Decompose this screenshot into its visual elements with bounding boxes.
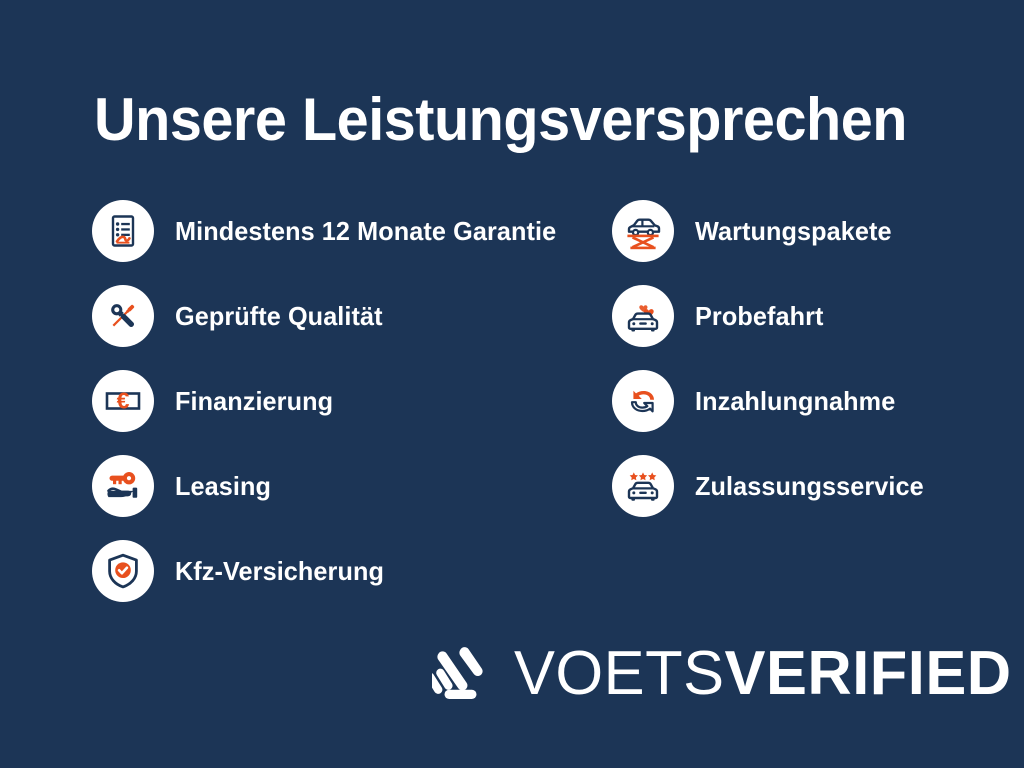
page-title: Unsere Leistungsversprechen xyxy=(94,86,920,154)
brand-logo-text: VOETSVERIFIED xyxy=(514,643,1012,705)
document-signature-icon xyxy=(92,200,154,262)
wrench-screwdriver-icon xyxy=(92,285,154,347)
feature-item-finanzierung[interactable]: € Finanzierung xyxy=(92,370,592,432)
feature-item-versicherung[interactable]: Kfz-Versicherung xyxy=(92,540,592,602)
feature-item-zulassungsservice[interactable]: Zulassungsservice xyxy=(612,455,1012,517)
feature-item-garantie[interactable]: Mindestens 12 Monate Garantie xyxy=(92,200,592,262)
feature-label: Geprüfte Qualität xyxy=(175,301,383,332)
voets-v-mark-icon xyxy=(432,641,490,707)
feature-label: Finanzierung xyxy=(175,386,333,417)
brand-name-verified: VERIFIED xyxy=(725,639,1012,708)
features-column-right: Wartungspakete Probefahrt xyxy=(612,200,1012,540)
svg-text:€: € xyxy=(117,388,130,414)
feature-item-leasing[interactable]: Leasing xyxy=(92,455,592,517)
feature-label: Probefahrt xyxy=(695,301,823,332)
car-hearts-icon xyxy=(612,285,674,347)
brand-name-voets: VOETS xyxy=(514,639,725,708)
feature-label: Inzahlungnahme xyxy=(695,386,895,417)
key-in-hand-icon xyxy=(92,455,154,517)
banknote-euro-icon: € xyxy=(92,370,154,432)
voets-verified-banner: Unsere Leistungsversprechen Mindestens 1… xyxy=(0,0,1024,768)
feature-item-qualitaet[interactable]: Geprüfte Qualität xyxy=(92,285,592,347)
car-lift-icon xyxy=(612,200,674,262)
brand-logo: VOETSVERIFIED xyxy=(432,636,1017,712)
feature-label: Zulassungsservice xyxy=(695,471,924,502)
car-stars-icon xyxy=(612,455,674,517)
exchange-arrows-icon xyxy=(612,370,674,432)
feature-item-probefahrt[interactable]: Probefahrt xyxy=(612,285,1012,347)
shield-check-icon xyxy=(92,540,154,602)
feature-label: Mindestens 12 Monate Garantie xyxy=(175,216,556,247)
feature-item-wartungspakete[interactable]: Wartungspakete xyxy=(612,200,1012,262)
feature-label: Wartungspakete xyxy=(695,216,892,247)
feature-label: Kfz-Versicherung xyxy=(175,556,384,587)
feature-item-inzahlungnahme[interactable]: Inzahlungnahme xyxy=(612,370,1012,432)
feature-label: Leasing xyxy=(175,471,271,502)
features-column-left: Mindestens 12 Monate Garantie xyxy=(92,200,592,625)
